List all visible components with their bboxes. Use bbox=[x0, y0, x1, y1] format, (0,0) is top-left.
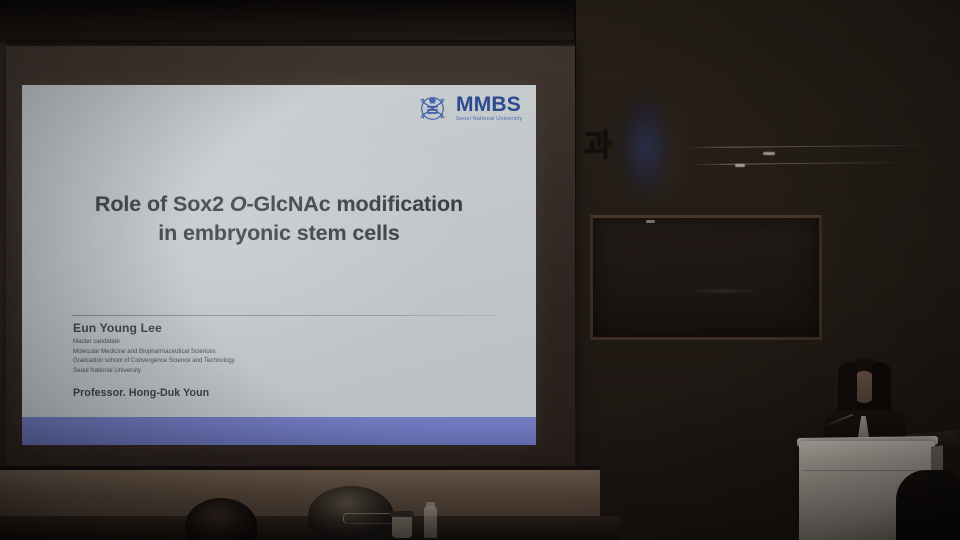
mmbs-logo: MMBS Seoul National University bbox=[416, 92, 522, 125]
slide-accent-band bbox=[22, 417, 536, 445]
presentation-slide: MMBS Seoul National University Role of S… bbox=[22, 85, 536, 445]
podium-seam bbox=[803, 470, 931, 471]
mmbs-subtitle: Seoul National University bbox=[456, 117, 522, 122]
slide-title: Role of Sox2 O-GlcNAc modification in em… bbox=[44, 190, 514, 247]
title-line1-pre: Role of Sox2 bbox=[95, 192, 230, 216]
slide-divider-rule bbox=[72, 315, 496, 316]
audience-glasses bbox=[343, 513, 395, 524]
author-block: Eun Young Lee Master candidate Molecular… bbox=[73, 321, 453, 399]
coffee-cup bbox=[392, 514, 412, 538]
blackboard-smudge bbox=[676, 287, 772, 295]
wall-sign-character: 과 bbox=[578, 126, 618, 166]
affiliation-line: Molecular Medicine and Biopharmaceutical… bbox=[73, 347, 453, 357]
mmbs-wordmark: MMBS bbox=[456, 94, 522, 115]
advisor-name: Professor. Hong-Duk Youn bbox=[73, 387, 453, 399]
lecture-hall-scene: 과 bbox=[0, 0, 960, 540]
blackboard bbox=[590, 215, 822, 340]
affiliation-line: Seoul National University bbox=[73, 366, 453, 376]
rail-reflection-a bbox=[763, 152, 775, 155]
affiliation-line: Graduation school of Convergence Science… bbox=[73, 356, 453, 366]
author-name: Eun Young Lee bbox=[73, 321, 453, 336]
rail-reflection-b bbox=[735, 164, 745, 167]
author-affiliations: Master candidate Molecular Medicine and … bbox=[73, 337, 453, 376]
title-line1-italic: O bbox=[230, 192, 247, 216]
affiliation-line: Master candidate bbox=[73, 337, 453, 347]
blackboard-clip bbox=[646, 220, 655, 223]
title-line1-post: -GlcNAc modification bbox=[246, 192, 463, 216]
foreground-chair bbox=[896, 470, 960, 540]
coffee-cup-lid bbox=[390, 511, 414, 517]
wall-banner bbox=[617, 92, 673, 210]
water-bottle bbox=[424, 506, 437, 538]
title-line2: in embryonic stem cells bbox=[158, 221, 399, 245]
snu-emblem-icon bbox=[416, 92, 449, 125]
water-bottle-cap bbox=[426, 502, 435, 508]
